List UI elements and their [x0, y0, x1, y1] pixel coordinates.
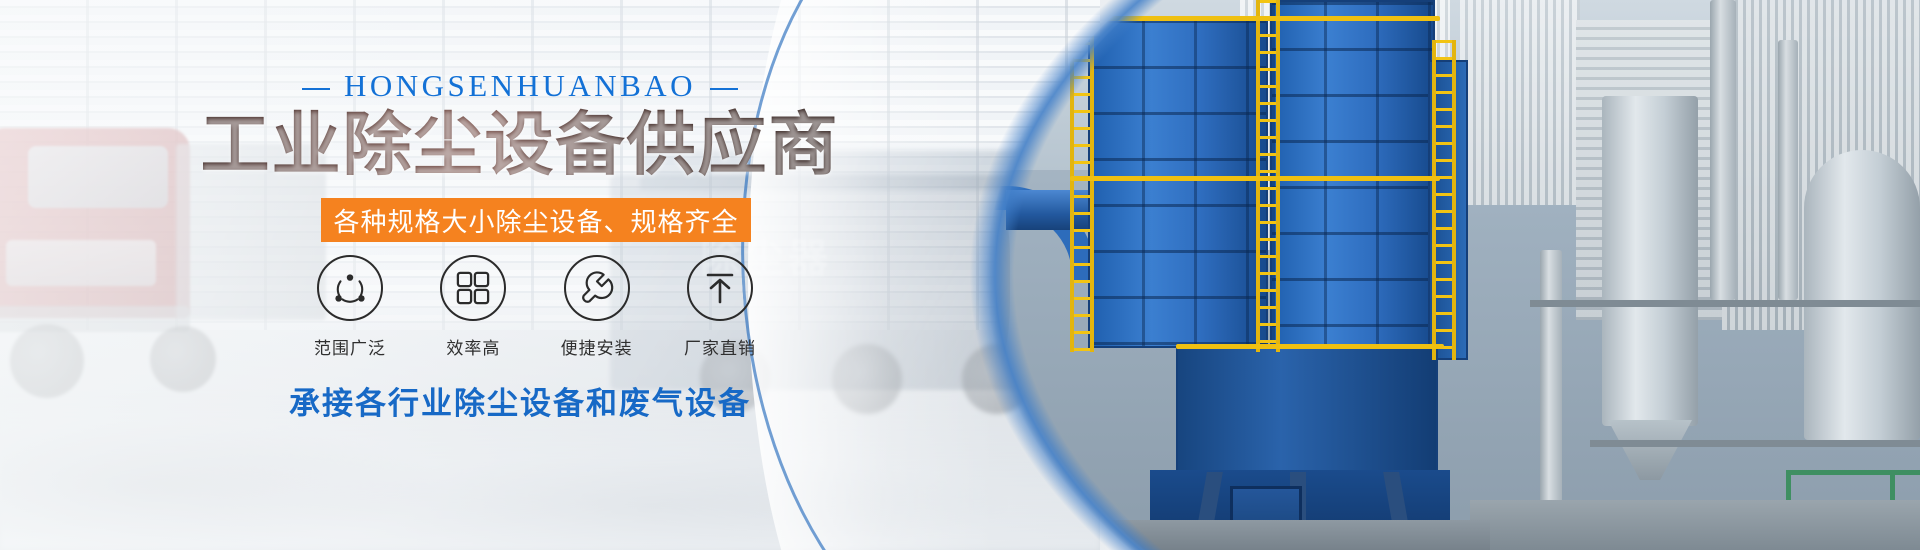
brand-eyebrow: HONGSENHUANBAO [0, 68, 1040, 104]
grid-squares-icon [440, 255, 506, 321]
plant-ground [970, 520, 1490, 550]
feature-item-direct-sales[interactable]: 厂家直销 [670, 255, 770, 359]
network-nodes-glyph [331, 269, 369, 307]
steel-platform [1530, 300, 1920, 307]
silo-hopper [1608, 420, 1692, 480]
feature-item-installation[interactable]: 便捷安装 [547, 255, 647, 359]
steel-silo [1602, 96, 1698, 426]
dash-left-icon [302, 88, 330, 90]
vertical-pipe [1778, 40, 1798, 300]
green-handrail [1786, 470, 1920, 475]
steel-tank [1804, 150, 1920, 440]
subtitle-orange-text: 各种规格大小除尘设备、规格齐全 [333, 202, 738, 239]
up-arrow-glyph [703, 270, 737, 306]
wrench-glyph [578, 269, 616, 307]
network-nodes-icon [317, 255, 383, 321]
baghouse-hopper [1176, 346, 1438, 474]
baghouse-module [1270, 0, 1435, 346]
feature-label: 便捷安装 [547, 334, 647, 359]
feature-label: 效率高 [423, 334, 523, 359]
wrench-icon [564, 255, 630, 321]
feature-item-efficiency[interactable]: 效率高 [423, 255, 523, 359]
hero-tagline: 承接各行业除尘设备和废气设备 [0, 378, 1040, 423]
baghouse-module [1088, 18, 1268, 348]
up-arrow-icon [687, 255, 753, 321]
feature-label: 厂家直销 [670, 334, 770, 359]
feature-label: 范围广泛 [300, 334, 400, 359]
feature-list: 范围广泛 效率高 [300, 255, 770, 359]
hero-content: HONGSENHUANBAO 工业除尘设备供应商 各种规格大小除尘设备、规格齐全 [0, 0, 1040, 550]
steel-platform [1590, 440, 1920, 447]
hero-banner: 除尘器 [0, 0, 1920, 550]
yellow-handrail [1070, 16, 1440, 21]
grid-squares-glyph [456, 271, 490, 305]
yellow-ladder [1432, 40, 1456, 360]
page-title: 工业除尘设备供应商 [0, 108, 1040, 182]
plant-ground [1470, 500, 1920, 550]
dash-right-icon [710, 88, 738, 90]
feature-item-range[interactable]: 范围广泛 [300, 255, 400, 359]
brand-eyebrow-text: HONGSENHUANBAO [344, 68, 696, 103]
yellow-handrail [1176, 344, 1444, 349]
background-building [1460, 0, 1580, 205]
subtitle-orange-banner: 各种规格大小除尘设备、规格齐全 [321, 198, 751, 242]
vertical-pipe [1710, 0, 1736, 300]
yellow-handrail [1070, 176, 1440, 181]
